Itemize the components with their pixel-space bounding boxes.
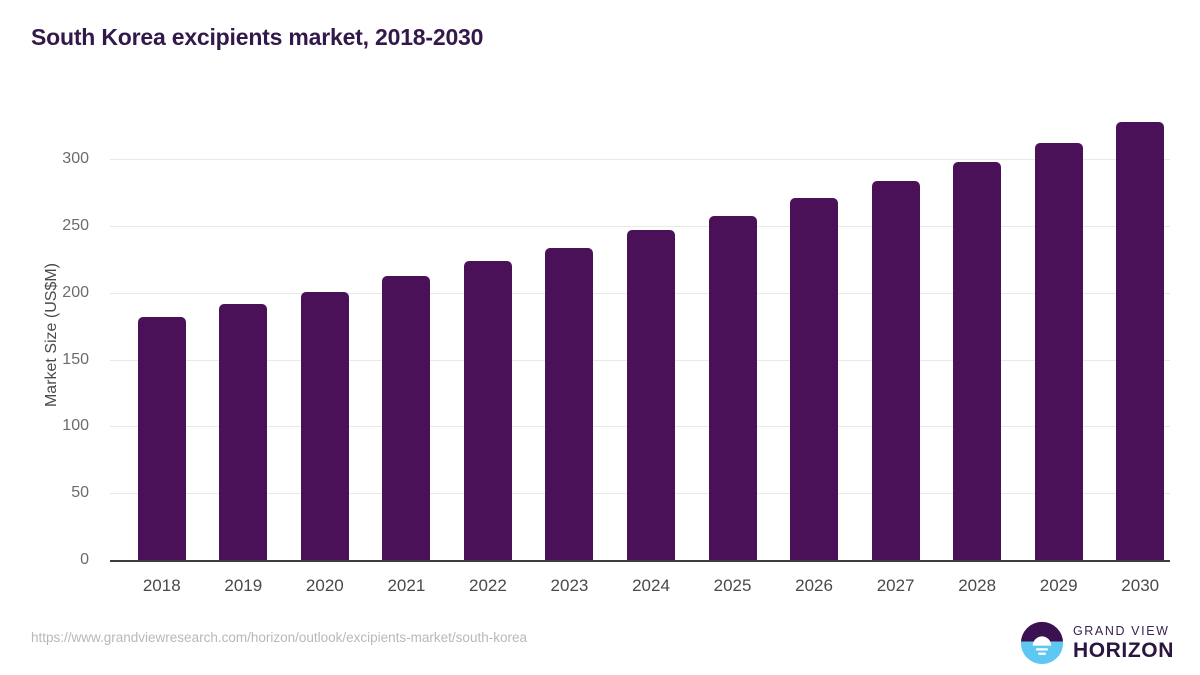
y-axis-tick-label: 250 (19, 217, 89, 235)
source-url-text: https://www.grandviewresearch.com/horizo… (31, 630, 527, 645)
bar[interactable] (709, 216, 757, 561)
y-axis-tick-label: 300 (19, 150, 89, 168)
y-axis-tick-label: 100 (19, 417, 89, 435)
page-title: South Korea excipients market, 2018-2030 (31, 24, 483, 51)
x-axis-tick-label: 2023 (528, 576, 610, 596)
x-axis-line (110, 560, 1170, 562)
bar[interactable] (301, 292, 349, 560)
chart-page: South Korea excipients market, 2018-2030… (0, 0, 1200, 675)
bar[interactable] (872, 181, 920, 560)
bar[interactable] (790, 198, 838, 560)
bar[interactable] (627, 230, 675, 560)
x-axis-tick-label: 2025 (692, 576, 774, 596)
gridline (110, 159, 1170, 160)
bar[interactable] (464, 261, 512, 560)
brand-logo: GRAND VIEW HORIZON (1020, 620, 1174, 666)
x-axis-tick-label: 2022 (447, 576, 529, 596)
y-axis-title: Market Size (US$M) (43, 263, 61, 407)
plot-area: 050100150200250300 Market Size (US$M) 20… (110, 110, 1170, 560)
bar[interactable] (545, 248, 593, 560)
x-axis-tick-label: 2019 (202, 576, 284, 596)
gridline (110, 226, 1170, 227)
logo-wordmark: GRAND VIEW HORIZON (1073, 625, 1174, 662)
grand-view-horizon-circle-logo-icon (1020, 621, 1064, 665)
y-axis-tick-label: 0 (19, 551, 89, 569)
x-axis-tick-label: 2028 (936, 576, 1018, 596)
logo-line-grand-view: GRAND VIEW (1073, 625, 1174, 638)
x-axis-tick-label: 2027 (855, 576, 937, 596)
bar[interactable] (1116, 122, 1164, 560)
x-axis-tick-label: 2029 (1018, 576, 1100, 596)
x-axis-tick-label: 2026 (773, 576, 855, 596)
logo-line-horizon: HORIZON (1073, 640, 1174, 661)
x-axis-tick-label: 2020 (284, 576, 366, 596)
bar[interactable] (1035, 143, 1083, 560)
y-axis-tick-label: 50 (19, 484, 89, 502)
x-axis-tick-label: 2024 (610, 576, 692, 596)
x-axis-tick-label: 2030 (1099, 576, 1181, 596)
bar[interactable] (953, 162, 1001, 560)
x-axis-tick-label: 2021 (365, 576, 447, 596)
bar[interactable] (219, 304, 267, 560)
x-axis-tick-label: 2018 (121, 576, 203, 596)
bar[interactable] (382, 276, 430, 560)
bar[interactable] (138, 317, 186, 560)
